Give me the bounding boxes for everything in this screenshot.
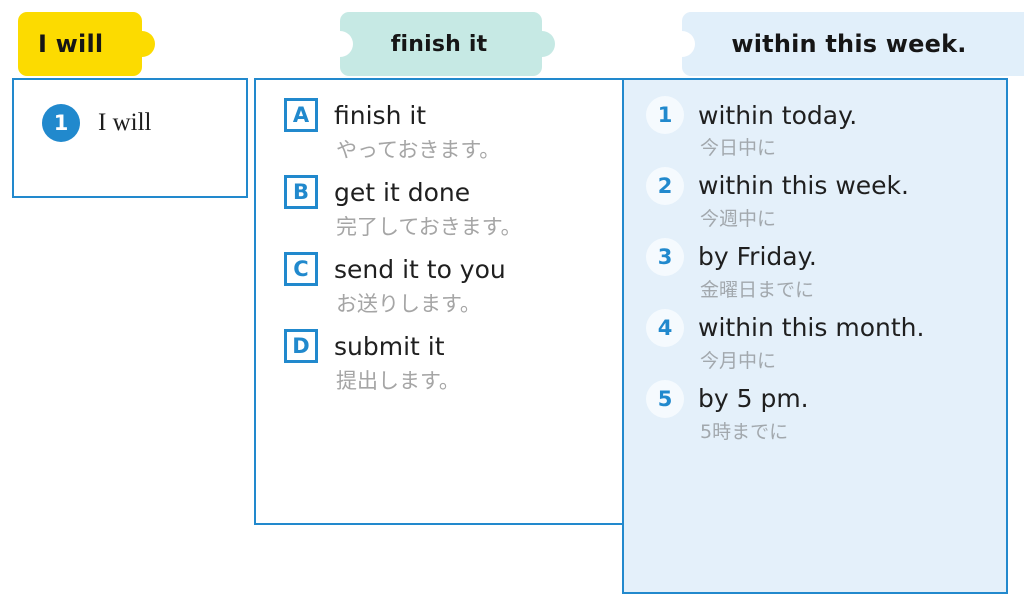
answers-list: 1 within today. 今日中に 2 within this week.…: [624, 80, 1006, 442]
list-item[interactable]: 2 within this week. 今週中に: [646, 167, 1006, 230]
option-letter-badge: A: [284, 98, 318, 132]
answer-number-badge: 4: [646, 309, 684, 347]
option-letter-badge: B: [284, 175, 318, 209]
answer-english-text: within this week.: [698, 173, 909, 198]
option-english-text: finish it: [334, 103, 426, 128]
option-letter-badge: C: [284, 252, 318, 286]
list-item-head: 4 within this month.: [646, 309, 1006, 347]
option-english-text: send it to you: [334, 257, 506, 282]
list-item-head: C send it to you: [284, 252, 623, 286]
answer-english-text: by Friday.: [698, 244, 817, 269]
answer-japanese-text: 5時までに: [700, 422, 1006, 443]
list-item-head: A finish it: [284, 98, 623, 132]
list-item[interactable]: 5 by 5 pm. 5時までに: [646, 380, 1006, 443]
answer-number-badge: 2: [646, 167, 684, 205]
puzzle-tab-verb-label: finish it: [340, 32, 542, 57]
answer-number-badge: 3: [646, 238, 684, 276]
answer-japanese-text: 今日中に: [700, 138, 1006, 159]
list-item[interactable]: 1 I will: [14, 80, 246, 142]
list-item-head: 1 within today.: [646, 96, 1006, 134]
list-item-head: B get it done: [284, 175, 623, 209]
puzzle-notch-left-icon: [669, 31, 695, 57]
puzzle-tab-timeframe: within this week.: [682, 12, 1024, 76]
puzzle-tab-verb: finish it: [340, 12, 542, 76]
answer-number-badge: 5: [646, 380, 684, 418]
option-english-text: get it done: [334, 180, 470, 205]
answer-japanese-text: 金曜日までに: [700, 280, 1006, 301]
list-item[interactable]: A finish it やっておきます。: [284, 98, 623, 162]
option-japanese-text: お送りします。: [336, 293, 623, 316]
puzzle-tab-subject: I will: [18, 12, 142, 76]
options-list: A finish it やっておきます。 B get it done 完了してお…: [256, 80, 623, 393]
puzzle-tab-subject-label: I will: [18, 30, 103, 58]
list-item-head: 2 within this week.: [646, 167, 1006, 205]
option-english-text: submit it: [334, 334, 445, 359]
list-item[interactable]: C send it to you お送りします。: [284, 252, 623, 316]
answers-panel: 1 within today. 今日中に 2 within this week.…: [622, 78, 1008, 594]
list-item[interactable]: B get it done 完了しておきます。: [284, 175, 623, 239]
options-panel: A finish it やっておきます。 B get it done 完了してお…: [254, 78, 625, 525]
list-item[interactable]: 1 within today. 今日中に: [646, 96, 1006, 159]
item-english-text: I will: [98, 109, 151, 137]
subject-panel: 1 I will: [12, 78, 248, 198]
option-japanese-text: 完了しておきます。: [336, 216, 623, 239]
answer-english-text: by 5 pm.: [698, 386, 809, 411]
option-letter-badge: D: [284, 329, 318, 363]
option-japanese-text: やっておきます。: [336, 139, 623, 162]
list-item-head: 3 by Friday.: [646, 238, 1006, 276]
list-item-head: D submit it: [284, 329, 623, 363]
answer-japanese-text: 今週中に: [700, 209, 1006, 230]
list-item[interactable]: 4 within this month. 今月中に: [646, 309, 1006, 372]
item-number-badge: 1: [42, 104, 80, 142]
list-item[interactable]: 3 by Friday. 金曜日までに: [646, 238, 1006, 301]
puzzle-tab-timeframe-label: within this week.: [682, 30, 1016, 58]
answer-number-badge: 1: [646, 96, 684, 134]
answer-english-text: within today.: [698, 103, 857, 128]
puzzle-notch-left-icon: [327, 31, 353, 57]
answer-japanese-text: 今月中に: [700, 351, 1006, 372]
list-item-head: 5 by 5 pm.: [646, 380, 1006, 418]
list-item[interactable]: D submit it 提出します。: [284, 329, 623, 393]
puzzle-knob-right-icon: [129, 31, 155, 57]
puzzle-knob-right-icon: [529, 31, 555, 57]
option-japanese-text: 提出します。: [336, 370, 623, 393]
answer-english-text: within this month.: [698, 315, 924, 340]
